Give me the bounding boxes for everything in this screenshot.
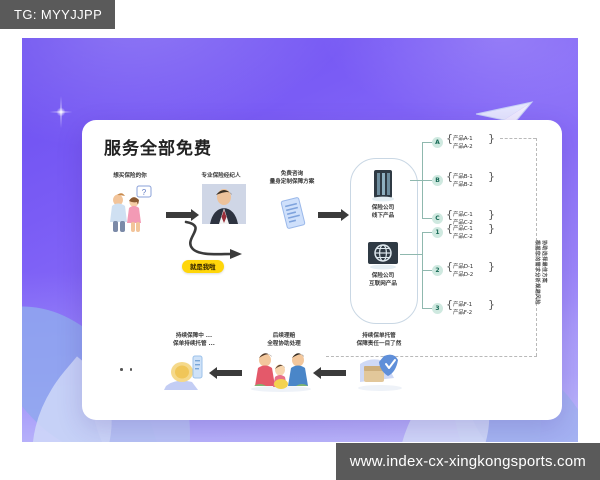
connector-line bbox=[410, 180, 422, 181]
page-title: 服务全部免费 bbox=[104, 134, 212, 159]
product-group-node: B bbox=[432, 175, 443, 186]
product-label: 产品B-2 bbox=[453, 180, 473, 188]
step1-label: 想买保险的你 bbox=[100, 172, 160, 180]
product-group-node: 3 bbox=[432, 303, 443, 314]
side-note-line1: 协助选择最佳方案 bbox=[541, 240, 548, 283]
screenshot-root: 服务全部免费 想买保险的你 ? 专业保险经纪人 bbox=[0, 0, 600, 480]
watermark-url-badge: www.index-cx-xingkongsports.com bbox=[336, 443, 600, 480]
product-label: 产品C-1 bbox=[453, 210, 473, 218]
brace-icon: } bbox=[488, 171, 495, 182]
product-label: 产品A-1 bbox=[453, 134, 472, 142]
online-label-line2: 互联网产品 bbox=[354, 280, 412, 288]
bottom-item1-line2: 保单持续托管 ... bbox=[154, 340, 234, 348]
bottom-item3-line2: 保障责任一目了然 bbox=[334, 340, 424, 348]
flow-arrow bbox=[318, 212, 342, 218]
brace-icon: { bbox=[446, 299, 453, 310]
connector-line bbox=[422, 270, 432, 271]
brace-icon: { bbox=[446, 171, 453, 182]
brace-icon: { bbox=[446, 261, 453, 272]
connector-line bbox=[422, 142, 432, 143]
brace-icon: } bbox=[488, 133, 495, 144]
flow-arrow-left bbox=[216, 370, 242, 376]
product-label: 产品A-2 bbox=[453, 142, 472, 150]
telegram-handle-badge: TG: MYYJJPP bbox=[0, 0, 115, 29]
product-label: 产品F-1 bbox=[453, 300, 472, 308]
bottom-item3-line1: 持续保单托管 bbox=[334, 332, 424, 340]
bottom-item1-line1: 持续保障中 ... bbox=[154, 332, 234, 340]
product-label: 产品C-2 bbox=[453, 232, 473, 240]
product-group-node: 2 bbox=[432, 265, 443, 276]
brace-icon: } bbox=[488, 209, 495, 220]
brace-icon: { bbox=[446, 209, 453, 220]
product-label: 产品F-2 bbox=[453, 308, 472, 316]
brace-icon: { bbox=[446, 223, 453, 234]
brace-icon: } bbox=[488, 261, 495, 272]
brace-icon: } bbox=[488, 299, 495, 310]
connector-line bbox=[422, 308, 432, 309]
flow-arrow bbox=[166, 212, 192, 218]
product-label: 产品D-1 bbox=[453, 262, 473, 270]
step2-label: 专业保险经纪人 bbox=[186, 172, 256, 180]
brace-icon: } bbox=[488, 223, 495, 234]
customers-illustration: ? bbox=[104, 184, 158, 234]
product-group-node: 1 bbox=[432, 227, 443, 238]
connector-line bbox=[400, 254, 422, 255]
connector-line bbox=[422, 232, 432, 233]
online-label-line1: 保险公司 bbox=[354, 272, 412, 280]
bottom-item2-line2: 全程协助处理 bbox=[244, 340, 324, 348]
family-claims-icon bbox=[248, 348, 314, 392]
dashed-connector bbox=[500, 138, 536, 140]
product-label: 产品B-1 bbox=[453, 172, 473, 180]
highlight-badge: 就是我啦 bbox=[182, 260, 224, 273]
policy-custody-icon bbox=[160, 352, 208, 392]
svg-text:?: ? bbox=[142, 188, 147, 197]
connector-line bbox=[422, 218, 432, 219]
curved-pointer-arrow bbox=[178, 220, 252, 264]
step3-label-line2: 量身定制保障方案 bbox=[252, 178, 332, 186]
plan-document-icon bbox=[278, 196, 308, 230]
side-note-line2: 根据您的需求分析规避风险 bbox=[534, 240, 541, 305]
offline-label-line1: 保险公司 bbox=[354, 204, 412, 212]
product-group-node: A bbox=[432, 137, 443, 148]
step3-label-line1: 免费咨询 bbox=[252, 170, 332, 178]
insurance-protection-icon bbox=[354, 348, 406, 392]
connector-line bbox=[422, 180, 432, 181]
offline-label-line2: 线下产品 bbox=[354, 212, 412, 220]
ellipsis-dots bbox=[120, 368, 132, 371]
product-group-node: C bbox=[432, 213, 443, 224]
flow-arrow-left bbox=[320, 370, 346, 376]
poster-background: 服务全部免费 想买保险的你 ? 专业保险经纪人 bbox=[22, 38, 578, 442]
bottom-item2-line1: 后续理赔 bbox=[244, 332, 324, 340]
online-globe-icon bbox=[366, 240, 400, 270]
product-label: 产品D-2 bbox=[453, 270, 473, 278]
product-label: 产品C-1 bbox=[453, 224, 473, 232]
broker-illustration bbox=[202, 184, 246, 224]
brace-icon: { bbox=[446, 133, 453, 144]
offline-building-icon bbox=[370, 168, 396, 202]
content-card: 服务全部免费 想买保险的你 ? 专业保险经纪人 bbox=[82, 120, 562, 420]
